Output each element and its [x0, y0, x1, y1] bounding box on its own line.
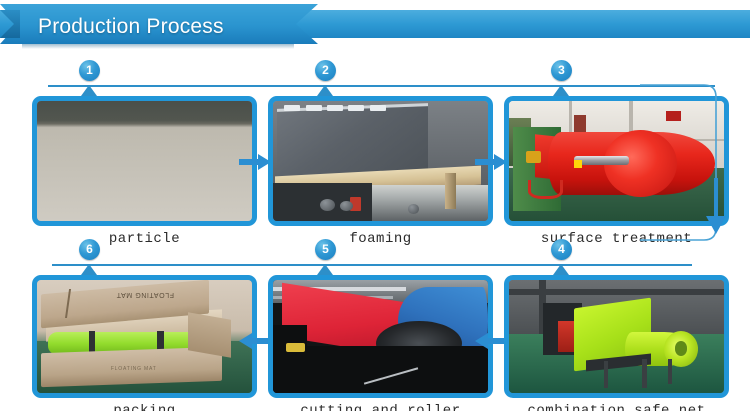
- photo-combination-safe-net: [509, 280, 724, 393]
- process-row-1: 1: [0, 55, 750, 235]
- step-pointer-1: [81, 85, 97, 96]
- row1-connector-line: [48, 85, 715, 87]
- step-badge-2: 2: [315, 60, 336, 81]
- step-card-5[interactable]: [268, 275, 493, 398]
- step-card-1[interactable]: [32, 96, 257, 226]
- step-badge-1: 1: [79, 60, 100, 81]
- step-card-2[interactable]: [268, 96, 493, 226]
- step-label-4: combination safe net: [504, 403, 729, 411]
- photo-foaming: [273, 101, 488, 221]
- page-title: Production Process: [38, 10, 224, 44]
- production-process-diagram: Production Process 1: [0, 0, 750, 411]
- step-pointer-3: [553, 85, 569, 96]
- packing-box-front-text: FLOATING MAT: [89, 366, 179, 372]
- step-badge-3: 3: [551, 60, 572, 81]
- flow-arrow-left-1: [238, 330, 272, 352]
- step-label-5: cutting and roller: [268, 403, 493, 411]
- step-pointer-6: [81, 264, 97, 275]
- flow-arrow-right-2: [474, 151, 508, 173]
- flow-arrow-right-1: [238, 151, 272, 173]
- banner-ribbon-shadow: [22, 44, 294, 49]
- packing-box-top-text: FLOATING MAT: [102, 291, 188, 298]
- step-badge-6: 6: [79, 239, 100, 260]
- step-pointer-5: [317, 264, 333, 275]
- step-card-4[interactable]: [504, 275, 729, 398]
- row2-connector-line: [52, 264, 692, 266]
- step-pointer-4: [553, 264, 569, 275]
- process-row-2: 6 FLOATING MAT FLOATING MAT packing: [0, 234, 750, 411]
- header-banner: Production Process: [0, 4, 750, 44]
- step-card-6[interactable]: FLOATING MAT FLOATING MAT: [32, 275, 257, 398]
- step-label-6: packing: [32, 403, 257, 411]
- photo-packing: FLOATING MAT FLOATING MAT: [37, 280, 252, 393]
- step-badge-5: 5: [315, 239, 336, 260]
- step-badge-4: 4: [551, 239, 572, 260]
- flow-arrow-left-2: [474, 330, 508, 352]
- step-pointer-2: [317, 85, 333, 96]
- photo-particle: [37, 101, 252, 221]
- photo-cutting-roller: [273, 280, 488, 393]
